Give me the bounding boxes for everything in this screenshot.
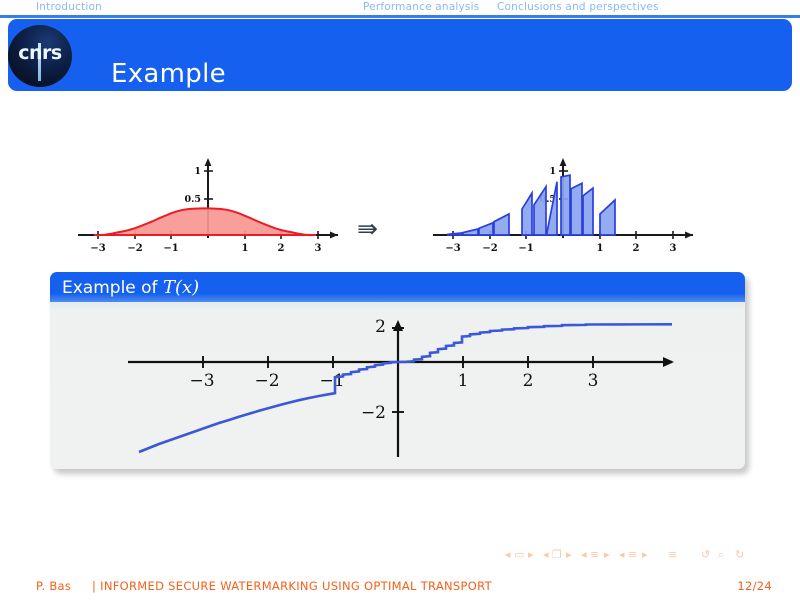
segment [547, 182, 557, 235]
svg-text:2: 2 [278, 243, 285, 254]
slide: Introduction Performance analysis Conclu… [0, 0, 800, 600]
target-distribution-chart: −3 −2 −1 1 2 3 0.5 1 [425, 150, 705, 255]
cnrs-logo: cnrs [8, 25, 72, 87]
example-block: Example of T(x) [50, 272, 745, 469]
svg-text:0.5: 0.5 [184, 194, 201, 205]
segment [583, 188, 593, 235]
footer-bar: P. Bas | INFORMED SECURE WATERMARKING US… [0, 572, 800, 600]
search-icon[interactable]: ⌕ [718, 548, 724, 562]
svg-text:−3: −3 [445, 243, 460, 254]
segment [600, 200, 615, 235]
svg-text:3: 3 [670, 243, 677, 254]
source-curve [94, 208, 316, 235]
nav-item-introduction[interactable]: Introduction [36, 1, 102, 13]
svg-text:1: 1 [242, 243, 249, 254]
block-title-prefix: Example of [62, 278, 163, 298]
svg-text:−1: −1 [163, 243, 178, 254]
svg-text:2: 2 [375, 317, 386, 337]
source-distribution-chart: −3 −2 −1 1 2 3 0.5 1 [70, 150, 350, 255]
y-axis-arrow [393, 320, 403, 331]
x-axis-arrow [330, 232, 338, 239]
footer-title: | INFORMED SECURE WATERMARKING USING OPT… [92, 579, 492, 593]
footer-author: P. Bas [36, 579, 71, 593]
x-tick-labels: −3 −2 −1 1 2 3 [90, 243, 321, 254]
svg-text:−1: −1 [518, 243, 533, 254]
section-next-icon[interactable]: ▸ [642, 548, 648, 561]
svg-text:1: 1 [549, 166, 556, 177]
slide-frame-icon[interactable]: ▭ [514, 548, 524, 561]
segment [494, 214, 509, 235]
nav-item-performance-analysis[interactable]: Performance analysis [363, 1, 479, 13]
frame-next-icon[interactable]: ▸ [566, 548, 572, 561]
back-icon[interactable]: ↺ [701, 548, 710, 561]
block-title-bar: Example of T(x) [50, 272, 745, 302]
target-segments [448, 175, 615, 235]
svg-text:2: 2 [523, 371, 534, 391]
svg-text:−2: −2 [127, 243, 142, 254]
x-axis-arrow [685, 232, 693, 239]
svg-text:1: 1 [194, 166, 201, 177]
subsection-prev-icon[interactable]: ◂ [581, 548, 587, 561]
doc-icon[interactable]: ≡ [668, 548, 677, 561]
svg-text:3: 3 [315, 243, 322, 254]
page-title: Example [111, 59, 226, 89]
svg-text:2: 2 [633, 243, 640, 254]
y-tick-labels: 0.5 1 [184, 166, 201, 205]
nav-underline [0, 15, 800, 18]
navigation-bar: Introduction Performance analysis Conclu… [0, 0, 800, 18]
transport-map-chart: −3 −2 −1 1 2 3 2 −2 [50, 302, 745, 469]
beamer-navigation-symbols: ◂ ▭ ▸ ◂ ❐ ▸ ◂ ≡ ▸ ◂ ≡ ▸ ≡ ↺ ⌕ ↻ [505, 548, 785, 564]
svg-text:−3: −3 [189, 371, 214, 391]
x-tick-labels: −3 −2 −1 1 2 3 [189, 371, 598, 391]
svg-text:−1: −1 [319, 371, 344, 391]
frame-icon[interactable]: ❐ [552, 548, 562, 561]
segment [522, 193, 532, 235]
segment [463, 229, 478, 235]
svg-text:−2: −2 [361, 403, 386, 423]
implies-arrow: ⇛ [357, 216, 378, 241]
nav-sections: Introduction Performance analysis Conclu… [0, 0, 800, 16]
logo-text: cnrs [8, 42, 72, 64]
x-axis-arrow [663, 357, 674, 367]
svg-text:3: 3 [588, 371, 599, 391]
block-title-math: T(x) [163, 277, 199, 298]
section-icon[interactable]: ≡ [628, 548, 637, 561]
title-bar: Example [8, 19, 792, 91]
slide-prev-icon[interactable]: ◂ [505, 548, 511, 561]
segment [571, 183, 582, 235]
x-tick-labels: −3 −2 −1 1 2 3 [445, 243, 676, 254]
slide-next-icon[interactable]: ▸ [528, 548, 534, 561]
y-axis-arrow [205, 158, 212, 166]
y-axis-arrow [560, 158, 567, 166]
frame-prev-icon[interactable]: ◂ [543, 548, 549, 561]
svg-text:−2: −2 [254, 371, 279, 391]
svg-text:1: 1 [458, 371, 469, 391]
block-body: −3 −2 −1 1 2 3 2 −2 [50, 302, 745, 469]
svg-text:−3: −3 [90, 243, 105, 254]
svg-text:−2: −2 [482, 243, 497, 254]
subsection-icon[interactable]: ≡ [590, 548, 599, 561]
svg-text:1: 1 [597, 243, 604, 254]
footer-page-number: 12/24 [737, 579, 772, 593]
nav-item-conclusions-and-perspectives[interactable]: Conclusions and perspectives [497, 1, 659, 13]
forward-icon[interactable]: ↻ [735, 548, 744, 561]
block-title: Example of T(x) [62, 277, 199, 298]
segment [448, 233, 462, 235]
segment [479, 223, 493, 235]
subsection-next-icon[interactable]: ▸ [604, 548, 610, 561]
section-prev-icon[interactable]: ◂ [619, 548, 625, 561]
segment [561, 175, 570, 235]
